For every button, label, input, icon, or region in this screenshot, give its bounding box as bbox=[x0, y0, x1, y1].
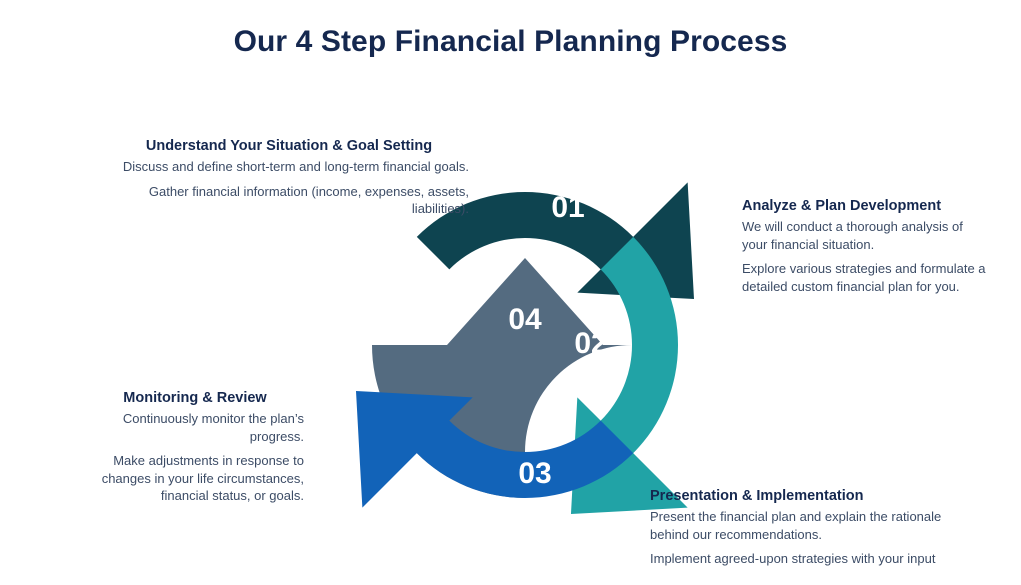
step-paragraph-3-2: Implement agreed-upon strategies with yo… bbox=[650, 550, 980, 568]
step-text-block-2: Analyze & Plan Development We will condu… bbox=[742, 198, 987, 295]
step-paragraph-4-1: Continuously monitor the plan’s progress… bbox=[86, 410, 304, 445]
step-heading-1: Understand Your Situation & Goal Setting bbox=[99, 138, 469, 154]
step-number-4: 04 bbox=[508, 303, 542, 336]
step-paragraph-2-1: We will conduct a thorough analysis of y… bbox=[742, 218, 987, 253]
step-text-block-3: Presentation & Implementation Present th… bbox=[650, 488, 980, 568]
step-heading-2: Analyze & Plan Development bbox=[742, 198, 987, 214]
step-text-block-4: Monitoring & Review Continuously monitor… bbox=[86, 390, 304, 505]
step-number-2: 02 bbox=[574, 327, 607, 360]
step-text-block-1: Understand Your Situation & Goal Setting… bbox=[99, 138, 469, 218]
step-heading-3: Presentation & Implementation bbox=[650, 488, 980, 504]
step-paragraph-3-1: Present the financial plan and explain t… bbox=[650, 508, 980, 543]
step-paragraph-2-2: Explore various strategies and formulate… bbox=[742, 260, 987, 295]
step-paragraph-1-1: Discuss and define short-term and long-t… bbox=[99, 158, 469, 176]
step-paragraph-1-2: Gather financial information (income, ex… bbox=[99, 183, 469, 218]
step-paragraph-4-2: Make adjustments in response to changes … bbox=[86, 452, 304, 505]
step-number-1: 01 bbox=[551, 191, 584, 224]
step-heading-4: Monitoring & Review bbox=[86, 390, 304, 406]
slide-canvas: Our 4 Step Financial Planning Process 04… bbox=[0, 0, 1021, 585]
page-title: Our 4 Step Financial Planning Process bbox=[0, 25, 1021, 59]
step-number-3: 03 bbox=[518, 457, 551, 490]
